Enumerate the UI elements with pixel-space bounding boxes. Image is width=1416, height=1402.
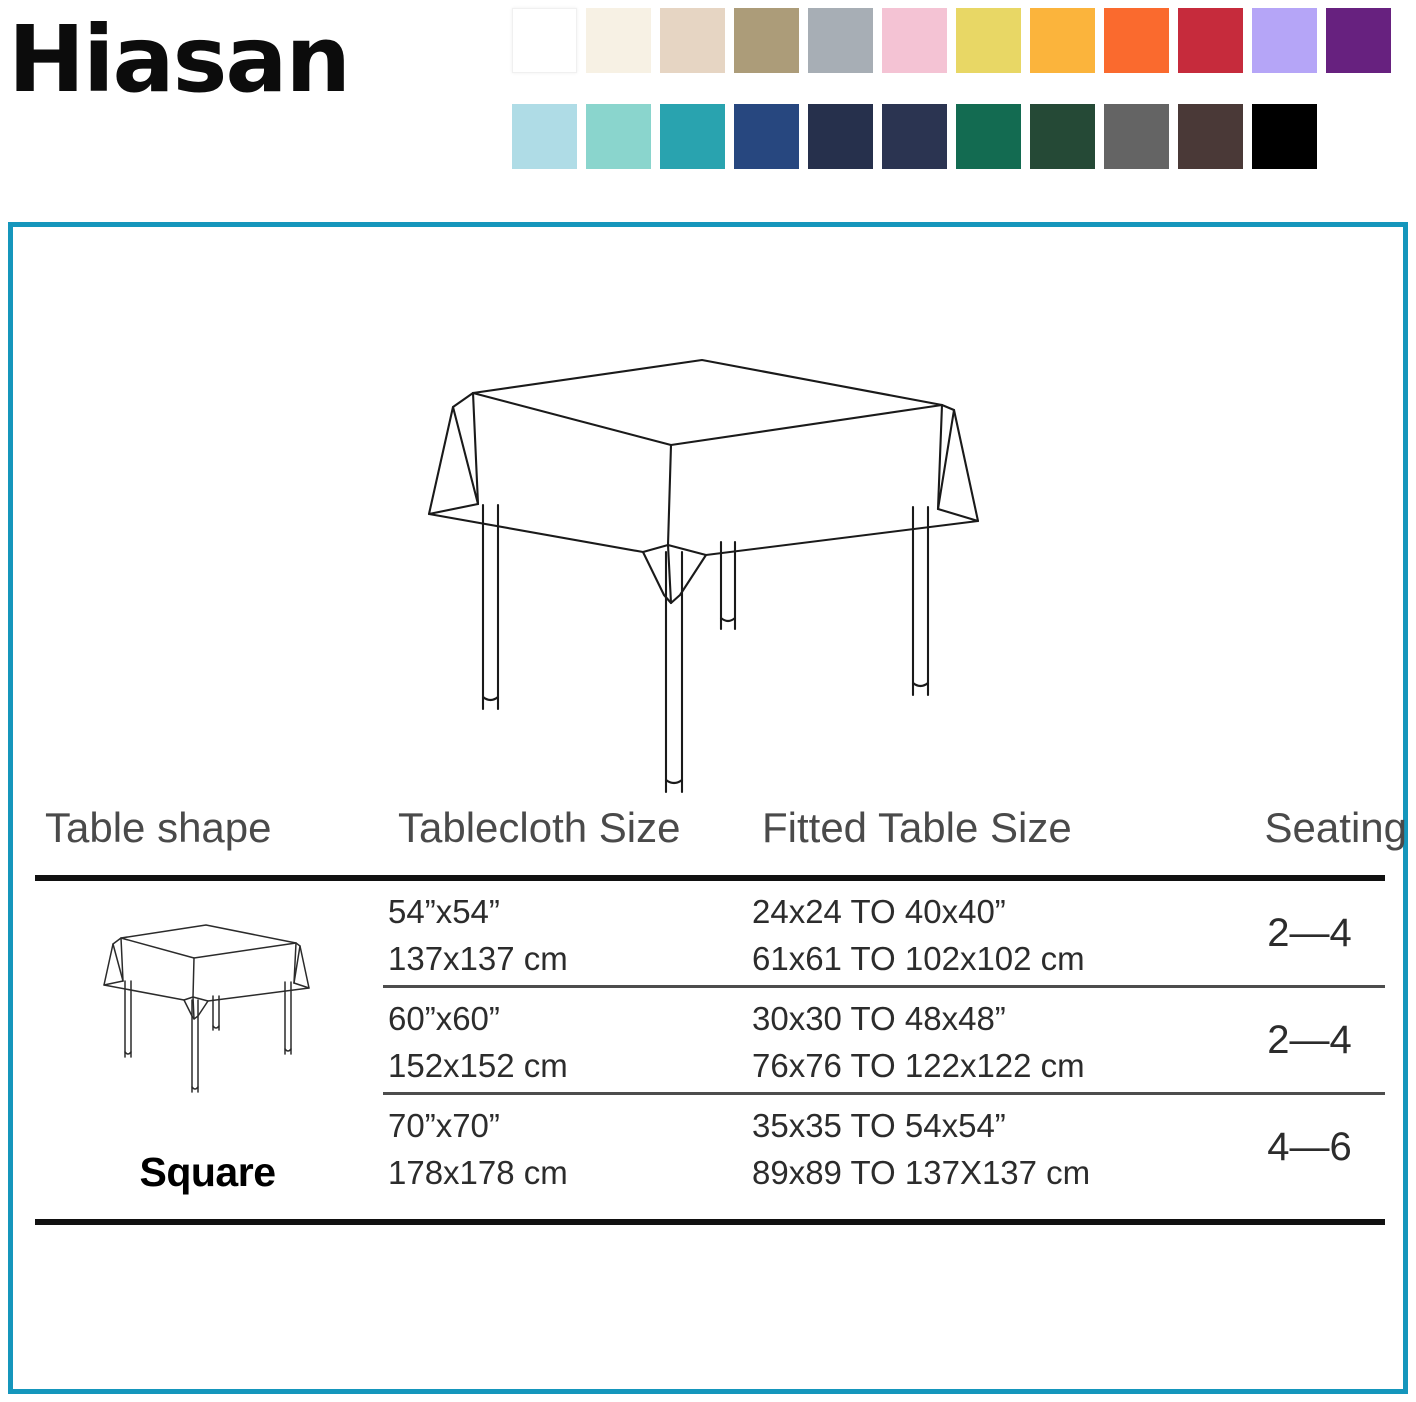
color-swatch-aqua[interactable] [586, 104, 651, 169]
seating-value: 2—4 [1222, 911, 1397, 956]
color-swatch-dark-navy[interactable] [882, 104, 947, 169]
cell-fitted-table-size: 35x35 TO 54x54” 89x89 TO 137X137 cm [748, 1097, 1222, 1197]
fitted-size-cm: 61x61 TO 102x102 cm [752, 936, 1222, 983]
color-swatch-forest-green[interactable] [1030, 104, 1095, 169]
color-swatch-ivory[interactable] [586, 8, 651, 73]
color-swatch-lavender[interactable] [1252, 8, 1317, 73]
color-swatch-light-blue[interactable] [512, 104, 577, 169]
color-swatch-purple[interactable] [1326, 8, 1391, 73]
color-swatch-orange[interactable] [1104, 8, 1169, 73]
color-swatch-gray[interactable] [808, 8, 873, 73]
fitted-size-inches: 35x35 TO 54x54” [752, 1103, 1222, 1150]
cloth-size-inches: 70”x70” [388, 1103, 748, 1150]
color-swatch-pink[interactable] [882, 8, 947, 73]
fitted-size-cm: 76x76 TO 122x122 cm [752, 1043, 1222, 1090]
brand-logo: Hiasan [8, 14, 349, 106]
cloth-size-cm: 152x152 cm [388, 1043, 748, 1090]
cloth-size-inches: 54”x54” [388, 889, 748, 936]
table-bottom-rule [35, 1219, 1385, 1225]
cell-tablecloth-size: 70”x70” 178x178 cm [380, 1097, 748, 1197]
table-row: 60”x60” 152x152 cm 30x30 TO 48x48” 76x76… [35, 988, 1385, 1092]
column-header-tablecloth-size: Tablecloth Size [390, 807, 758, 849]
color-swatch-navy[interactable] [808, 104, 873, 169]
color-swatch-teal[interactable] [660, 104, 725, 169]
color-swatch-taupe[interactable] [734, 8, 799, 73]
seating-value: 4—6 [1222, 1125, 1397, 1170]
cell-tablecloth-size: 60”x60” 152x152 cm [380, 990, 748, 1090]
cloth-size-cm: 137x137 cm [388, 936, 748, 983]
color-swatch-marigold[interactable] [1030, 8, 1095, 73]
color-swatch-red[interactable] [1178, 8, 1243, 73]
column-header-fitted-table-size: Fitted Table Size [758, 807, 1232, 849]
fitted-size-inches: 30x30 TO 48x48” [752, 996, 1222, 1043]
brand-and-color-strip: Hiasan [0, 0, 1416, 190]
color-swatch-beige[interactable] [660, 8, 725, 73]
color-swatch-white[interactable] [512, 8, 577, 73]
cell-fitted-table-size: 30x30 TO 48x48” 76x76 TO 122x122 cm [748, 990, 1222, 1090]
color-swatch-emerald[interactable] [956, 104, 1021, 169]
table-row: 54”x54” 137x137 cm 24x24 TO 40x40” 61x61… [35, 881, 1385, 985]
seating-value: 2—4 [1222, 1018, 1397, 1063]
fitted-size-inches: 24x24 TO 40x40” [752, 889, 1222, 936]
cell-seating: 2—4 [1222, 911, 1397, 956]
color-swatch-dark-gray[interactable] [1104, 104, 1169, 169]
column-header-seating: Seating [1232, 807, 1411, 849]
cell-fitted-table-size: 24x24 TO 40x40” 61x61 TO 102x102 cm [748, 883, 1222, 983]
color-swatch-yellow[interactable] [956, 8, 1021, 73]
table-header-row: Table shape Tablecloth Size Fitted Table… [35, 807, 1385, 875]
color-swatch-dark-brown[interactable] [1178, 104, 1243, 169]
size-chart-panel: Square Table shape Tablecloth Size Fitte… [8, 222, 1408, 1394]
size-spec-table: Table shape Tablecloth Size Fitted Table… [35, 807, 1385, 1225]
cloth-size-inches: 60”x60” [388, 996, 748, 1043]
color-swatch-grid [512, 8, 1416, 169]
fitted-size-cm: 89x89 TO 137X137 cm [752, 1150, 1222, 1197]
cell-tablecloth-size: 54”x54” 137x137 cm [380, 883, 748, 983]
cell-seating: 4—6 [1222, 1125, 1397, 1170]
color-swatch-royal-blue[interactable] [734, 104, 799, 169]
table-row: 70”x70” 178x178 cm 35x35 TO 54x54” 89x89… [35, 1095, 1385, 1199]
color-swatch-black[interactable] [1252, 104, 1317, 169]
cloth-size-cm: 178x178 cm [388, 1150, 748, 1197]
cell-seating: 2—4 [1222, 1018, 1397, 1063]
square-table-illustration [418, 337, 988, 807]
column-header-shape: Table shape [35, 807, 390, 849]
